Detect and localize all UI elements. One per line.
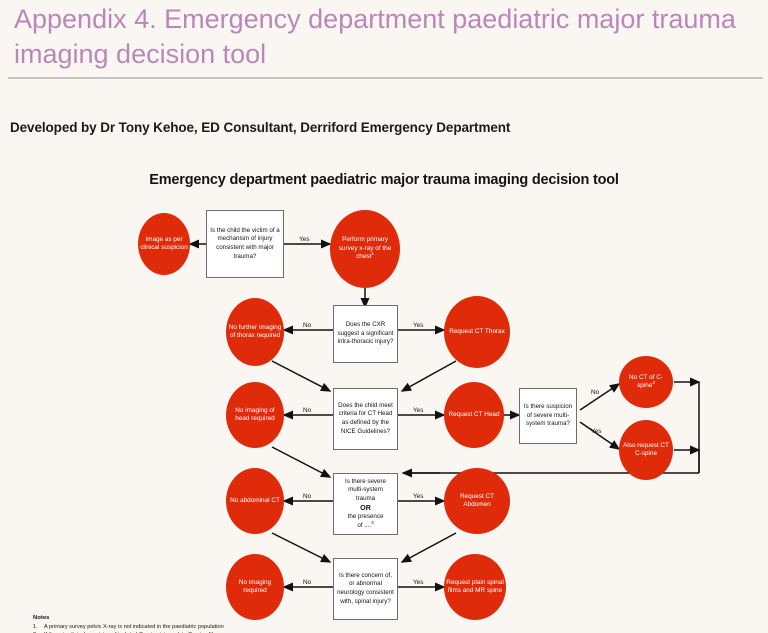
edge-label-no-abdomen: No bbox=[303, 493, 311, 500]
node-label: Does the child meet criteria for CT Head… bbox=[337, 402, 394, 436]
node-also-request-ct-cspine[interactable]: Also request CT C-spine bbox=[619, 420, 673, 480]
node-no-further-thorax-imaging[interactable]: No further imaging of thorax required bbox=[226, 298, 284, 366]
byline: Developed by Dr Tony Kehoe, ED Consultan… bbox=[10, 120, 510, 135]
page-root: Appendix 4. Emergency department paediat… bbox=[0, 0, 768, 633]
node-image-as-per-clinical-suspicion[interactable]: Image as per clinical suspicion bbox=[138, 213, 190, 275]
note-item: 1.A primary survey pelvic X-ray is not i… bbox=[33, 623, 233, 631]
node-request-ct-thorax[interactable]: Request CT Thorax bbox=[444, 296, 510, 368]
edge-label-no-cspine: No bbox=[591, 389, 599, 396]
node-no-head-imaging[interactable]: No imaging of head required bbox=[226, 382, 284, 448]
node-label: Request CT Abdomen bbox=[446, 493, 508, 510]
node-label: Request plain spinal films and MR spine bbox=[446, 579, 504, 596]
node-label: Is there suspicion of severe multi-syste… bbox=[523, 403, 573, 429]
node-label: Image as per clinical suspicion bbox=[140, 236, 188, 253]
note-number: 1. bbox=[33, 623, 44, 631]
node-label: Request CT Head bbox=[446, 411, 502, 419]
title-divider bbox=[8, 77, 763, 79]
flowchart-panel: Emergency department paediatric major tr… bbox=[0, 160, 768, 633]
footnote-marker-2: 2 bbox=[652, 380, 655, 385]
node-abdomen-question[interactable]: Is there severe multi-system trauma OR t… bbox=[333, 473, 398, 535]
edge-label-yes-cspine: Yes bbox=[591, 428, 601, 435]
node-multisystem-question[interactable]: Is there suspicion of severe multi-syste… bbox=[519, 388, 577, 444]
node-request-spinal-films[interactable]: Request plain spinal films and MR spine bbox=[444, 554, 506, 620]
node-cxr-question[interactable]: Does the CXR suggest a significant intra… bbox=[333, 305, 398, 363]
node-label: No imaging of head required bbox=[228, 407, 282, 424]
node-request-ct-head[interactable]: Request CT Head bbox=[444, 382, 504, 448]
node-label: Also request CT C-spine bbox=[621, 442, 671, 459]
node-no-abdominal-ct[interactable]: No abdominal CT bbox=[226, 468, 284, 534]
node-label: Does the CXR suggest a significant intra… bbox=[337, 321, 394, 347]
node-perform-primary-survey[interactable]: Perform primary survey x-ray of the ches… bbox=[330, 210, 400, 288]
node-label: No abdominal CT bbox=[228, 497, 282, 505]
edge-label-yes-mechanism: Yes bbox=[299, 236, 309, 243]
node-no-imaging-required[interactable]: No imaging required bbox=[226, 554, 284, 620]
footnote-marker-1: 1 bbox=[371, 251, 374, 256]
edge-label-no-ct-head: No bbox=[303, 407, 311, 414]
node-no-ct-cspine[interactable]: No CT of C-spine2 bbox=[619, 356, 673, 408]
node-label: Is the child the victim of a mechanism o… bbox=[210, 227, 280, 261]
edge-label-yes-spinal: Yes bbox=[413, 579, 423, 586]
node-label: Is there concern of, or abnormal neurolo… bbox=[337, 572, 394, 606]
page-title: Appendix 4. Emergency department paediat… bbox=[14, 2, 754, 72]
footnote-marker-3: 3 bbox=[371, 520, 373, 525]
node-spinal-question[interactable]: Is there concern of, or abnormal neurolo… bbox=[333, 558, 398, 620]
node-mechanism-question[interactable]: Is the child the victim of a mechanism o… bbox=[206, 210, 284, 278]
edge-label-yes-cxr: Yes bbox=[413, 322, 423, 329]
node-ct-head-question[interactable]: Does the child meet criteria for CT Head… bbox=[333, 388, 398, 450]
node-label: No CT of C-spine2 bbox=[621, 374, 671, 391]
node-label: Perform primary survey x-ray of the ches… bbox=[332, 236, 398, 261]
node-label: Request CT Thorax bbox=[446, 328, 508, 336]
edge-label-yes-ct-head: Yes bbox=[413, 407, 423, 414]
node-label: Is there severe multi-system trauma OR t… bbox=[337, 478, 394, 531]
edge-label-no-spinal: No bbox=[303, 579, 311, 586]
node-label: No further imaging of thorax required bbox=[228, 324, 282, 341]
note-text: A primary survey pelvic X-ray is not ind… bbox=[44, 623, 233, 631]
node-request-ct-abdomen[interactable]: Request CT Abdomen bbox=[444, 468, 510, 534]
notes-block: Notes 1.A primary survey pelvic X-ray is… bbox=[33, 614, 233, 633]
notes-heading: Notes bbox=[33, 614, 233, 622]
edge-label-yes-abdomen: Yes bbox=[413, 493, 423, 500]
edge-label-no-cxr: No bbox=[303, 322, 311, 329]
node-label: No imaging required bbox=[228, 579, 282, 596]
